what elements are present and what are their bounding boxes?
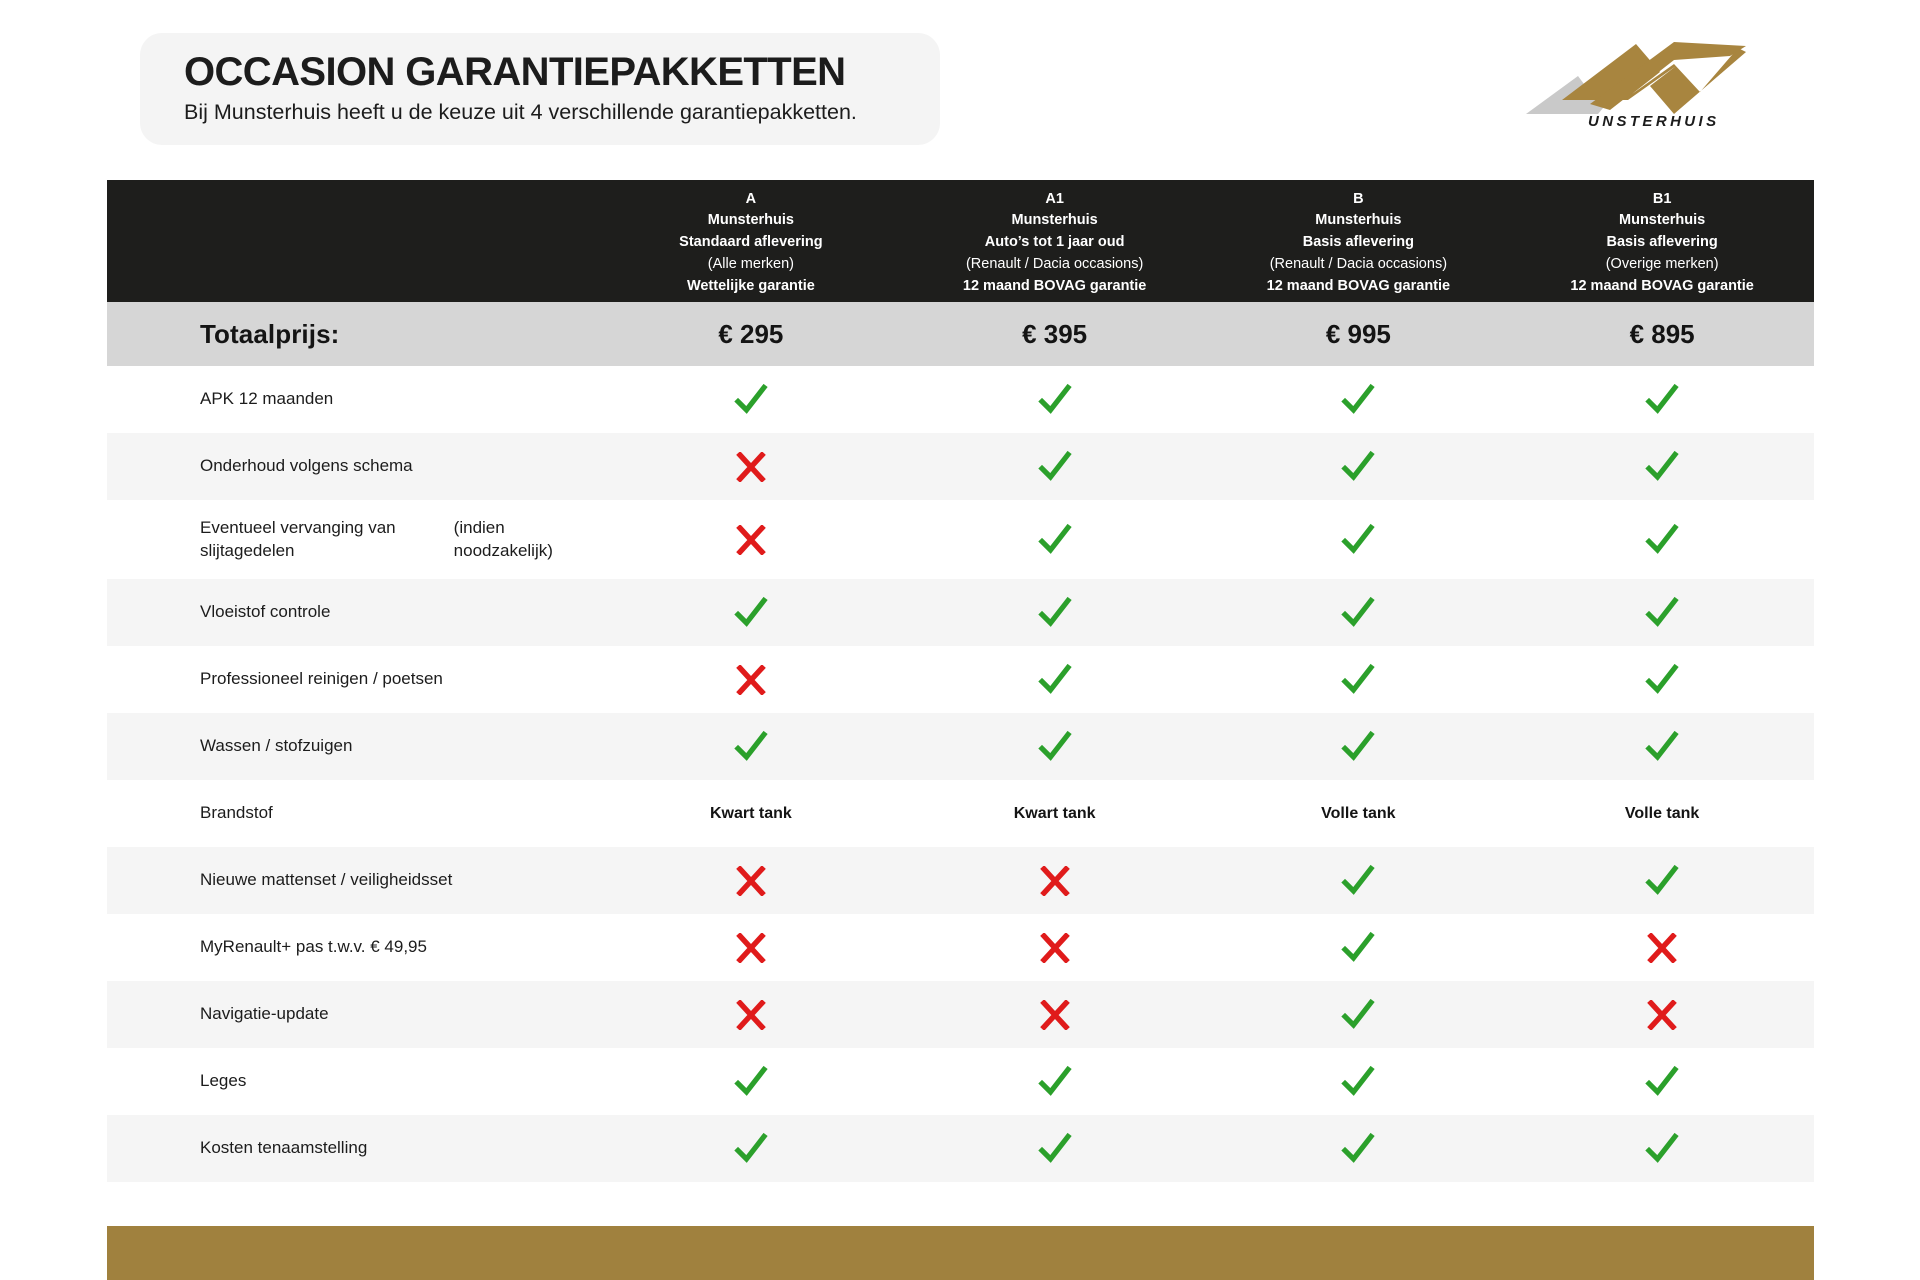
table-row: MyRenault+ pas t.w.v. € 49,95	[107, 914, 1814, 981]
table-row: Kosten tenaamstelling	[107, 1115, 1814, 1182]
table-row: Eventueel vervanging van slijtagedelen(i…	[107, 500, 1814, 579]
page-subtitle: Bij Munsterhuis heeft u de keuze uit 4 v…	[184, 98, 940, 127]
check-icon	[1207, 579, 1511, 646]
check-icon	[599, 1048, 903, 1115]
row-label-line: Wassen / stofzuigen	[200, 735, 352, 758]
munsterhuis-logo: UNSTERHUIS	[1524, 30, 1746, 130]
table-row: Leges	[107, 1048, 1814, 1115]
check-icon	[1207, 713, 1511, 780]
row-label: Leges	[107, 1048, 599, 1115]
check-icon	[1510, 366, 1814, 433]
row-label: Professioneel reinigen / poetsen	[107, 646, 599, 713]
cross-icon	[599, 500, 903, 579]
table-row: APK 12 maanden	[107, 366, 1814, 433]
table-row: Professioneel reinigen / poetsen	[107, 646, 1814, 713]
column-header-b1: B1 Munsterhuis Basis aflevering (Overige…	[1510, 180, 1814, 302]
cell-value: Volle tank	[1510, 780, 1814, 847]
cross-icon	[599, 646, 903, 713]
column-code: A	[746, 189, 756, 211]
check-icon	[1510, 1048, 1814, 1115]
page-title: OCCASION GARANTIEPAKKETTEN	[184, 50, 940, 95]
row-label-line: (indien noodzakelijk)	[454, 517, 587, 562]
check-icon	[903, 646, 1207, 713]
cross-icon	[599, 914, 903, 981]
column-package: Basis aflevering	[1607, 232, 1718, 254]
table-row: Navigatie-update	[107, 981, 1814, 1048]
row-label: Wassen / stofzuigen	[107, 713, 599, 780]
column-header-b: B Munsterhuis Basis aflevering (Renault …	[1207, 180, 1511, 302]
cross-icon	[903, 847, 1207, 914]
table-header-row: A Munsterhuis Standaard aflevering (Alle…	[107, 180, 1814, 302]
cell-value: Volle tank	[1207, 780, 1511, 847]
row-label: Navigatie-update	[107, 981, 599, 1048]
column-scope: (Renault / Dacia occasions)	[1270, 254, 1447, 276]
column-header-a1: A1 Munsterhuis Auto’s tot 1 jaar oud (Re…	[903, 180, 1207, 302]
cross-icon	[599, 433, 903, 500]
column-brand: Munsterhuis	[1315, 210, 1401, 232]
total-price-row: Totaalprijs: € 295 € 395 € 995 € 895	[107, 302, 1814, 366]
check-icon	[1510, 433, 1814, 500]
row-label-line: Nieuwe mattenset / veiligheidsset	[200, 869, 452, 892]
cross-icon	[903, 914, 1207, 981]
cell-value: Kwart tank	[903, 780, 1207, 847]
check-icon	[1207, 914, 1511, 981]
garantiepakketten-sheet: OCCASION GARANTIEPAKKETTEN Bij Munsterhu…	[0, 0, 1920, 1280]
column-scope: (Alle merken)	[708, 254, 794, 276]
column-scope: (Renault / Dacia occasions)	[966, 254, 1143, 276]
column-code: B1	[1653, 189, 1672, 211]
check-icon	[1207, 433, 1511, 500]
footer-gold-bar	[107, 1226, 1814, 1280]
row-label-line: Brandstof	[200, 802, 273, 825]
row-label: Onderhoud volgens schema	[107, 433, 599, 500]
column-scope: (Overige merken)	[1606, 254, 1719, 276]
check-icon	[1510, 847, 1814, 914]
logo-wordmark: UNSTERHUIS	[1588, 113, 1720, 130]
check-icon	[1207, 646, 1511, 713]
row-label-line: Vloeistof controle	[200, 601, 330, 624]
check-icon	[1207, 847, 1511, 914]
check-icon	[1207, 1115, 1511, 1182]
check-icon	[903, 433, 1207, 500]
total-price-label: Totaalprijs:	[107, 302, 599, 366]
column-warranty: 12 maand BOVAG garantie	[1570, 276, 1753, 298]
row-label-line: Leges	[200, 1070, 246, 1093]
table-row: Nieuwe mattenset / veiligheidsset	[107, 847, 1814, 914]
comparison-table: A Munsterhuis Standaard aflevering (Alle…	[107, 180, 1814, 1182]
row-label-line: Kosten tenaamstelling	[200, 1137, 367, 1160]
column-brand: Munsterhuis	[1012, 210, 1098, 232]
table-row: Onderhoud volgens schema	[107, 433, 1814, 500]
check-icon	[903, 366, 1207, 433]
check-icon	[599, 579, 903, 646]
column-package: Basis aflevering	[1303, 232, 1414, 254]
row-label: Vloeistof controle	[107, 579, 599, 646]
check-icon	[1207, 500, 1511, 579]
check-icon	[1207, 981, 1511, 1048]
row-label-line: MyRenault+ pas t.w.v. € 49,95	[200, 936, 427, 959]
column-code: A1	[1045, 189, 1064, 211]
check-icon	[903, 1048, 1207, 1115]
column-code: B	[1353, 189, 1363, 211]
check-icon	[903, 1115, 1207, 1182]
row-label: Nieuwe mattenset / veiligheidsset	[107, 847, 599, 914]
check-icon	[1207, 366, 1511, 433]
header-corner-cell	[107, 180, 599, 302]
row-label-line: Onderhoud volgens schema	[200, 455, 413, 478]
title-card: OCCASION GARANTIEPAKKETTEN Bij Munsterhu…	[140, 33, 940, 145]
check-icon	[1510, 713, 1814, 780]
cross-icon	[599, 981, 903, 1048]
row-label: APK 12 maanden	[107, 366, 599, 433]
check-icon	[599, 366, 903, 433]
row-label: MyRenault+ pas t.w.v. € 49,95	[107, 914, 599, 981]
check-icon	[1207, 1048, 1511, 1115]
table-row: Wassen / stofzuigen	[107, 713, 1814, 780]
price-b1: € 895	[1510, 302, 1814, 366]
column-package: Standaard aflevering	[679, 232, 822, 254]
cross-icon	[599, 847, 903, 914]
column-brand: Munsterhuis	[1619, 210, 1705, 232]
table-row: BrandstofKwart tankKwart tankVolle tankV…	[107, 780, 1814, 847]
check-icon	[1510, 579, 1814, 646]
check-icon	[1510, 646, 1814, 713]
price-a1: € 395	[903, 302, 1207, 366]
column-brand: Munsterhuis	[708, 210, 794, 232]
cell-value: Kwart tank	[599, 780, 903, 847]
price-a: € 295	[599, 302, 903, 366]
cross-icon	[903, 981, 1207, 1048]
check-icon	[903, 500, 1207, 579]
row-label-line: Navigatie-update	[200, 1003, 329, 1026]
column-warranty: Wettelijke garantie	[687, 276, 815, 298]
check-icon	[1510, 500, 1814, 579]
column-warranty: 12 maand BOVAG garantie	[963, 276, 1146, 298]
row-label-line: APK 12 maanden	[200, 388, 333, 411]
cross-icon	[1510, 981, 1814, 1048]
column-header-a: A Munsterhuis Standaard aflevering (Alle…	[599, 180, 903, 302]
cross-icon	[1510, 914, 1814, 981]
column-warranty: 12 maand BOVAG garantie	[1267, 276, 1450, 298]
row-label: Brandstof	[107, 780, 599, 847]
check-icon	[599, 1115, 903, 1182]
row-label: Kosten tenaamstelling	[107, 1115, 599, 1182]
column-package: Auto’s tot 1 jaar oud	[985, 232, 1125, 254]
row-label-line: Eventueel vervanging van slijtagedelen	[200, 517, 454, 562]
check-icon	[903, 713, 1207, 780]
row-label-line: Professioneel reinigen / poetsen	[200, 668, 443, 691]
check-icon	[1510, 1115, 1814, 1182]
price-b: € 995	[1207, 302, 1511, 366]
check-icon	[599, 713, 903, 780]
row-label: Eventueel vervanging van slijtagedelen(i…	[107, 500, 599, 579]
table-body: APK 12 maandenOnderhoud volgens schemaEv…	[107, 366, 1814, 1182]
table-row: Vloeistof controle	[107, 579, 1814, 646]
check-icon	[903, 579, 1207, 646]
